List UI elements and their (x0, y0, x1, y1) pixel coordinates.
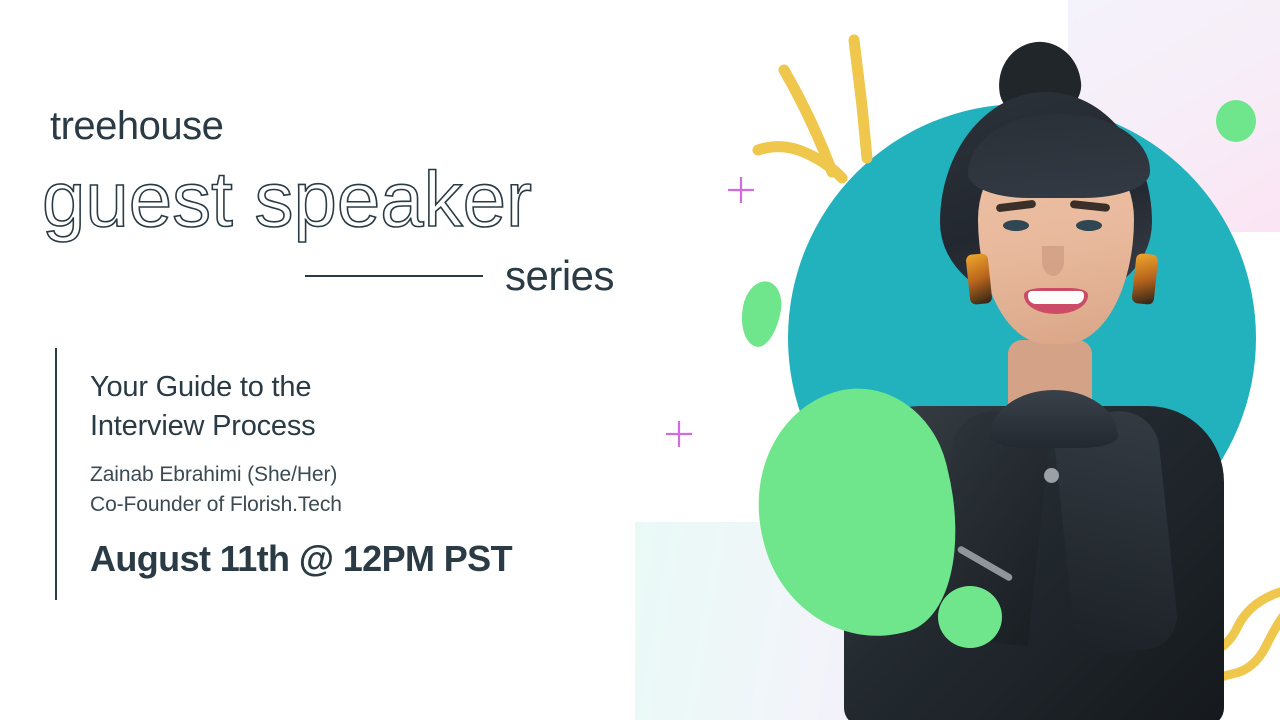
speaker-role: Co-Founder of Florish.Tech (90, 490, 610, 520)
portrait-teeth (1028, 291, 1084, 304)
portrait-nose (1042, 246, 1064, 276)
talk-title-line-1: Your Guide to the (90, 368, 610, 407)
speaker-name: Zainab Ebrahimi (She/Her) (90, 460, 610, 490)
promo-graphic: treehouse guest speaker series Your Guid… (0, 0, 1280, 720)
event-datetime: August 11th @ 12PM PST (90, 541, 610, 577)
portrait-eye (1003, 220, 1029, 231)
series-label-row: series (305, 255, 614, 297)
event-details: Your Guide to the Interview Process Zain… (90, 368, 610, 577)
green-bean-icon (737, 278, 786, 350)
text-panel: treehouse guest speaker series Your Guid… (0, 0, 660, 720)
portrait-earring (1131, 253, 1158, 305)
talk-title-line-2: Interview Process (90, 407, 610, 446)
magenta-plus-icon (726, 175, 756, 205)
detail-vertical-rule (55, 348, 57, 600)
portrait-eye (1076, 220, 1102, 231)
portrait-jacket-snap (1044, 468, 1059, 483)
series-divider-rule (305, 275, 483, 277)
page-title: guest speaker (42, 160, 532, 238)
series-label: series (505, 255, 614, 297)
talk-title: Your Guide to the Interview Process (90, 368, 610, 446)
treehouse-wordmark: treehouse (50, 106, 223, 146)
magenta-plus-icon (664, 419, 694, 449)
green-dot-icon (938, 586, 1002, 648)
